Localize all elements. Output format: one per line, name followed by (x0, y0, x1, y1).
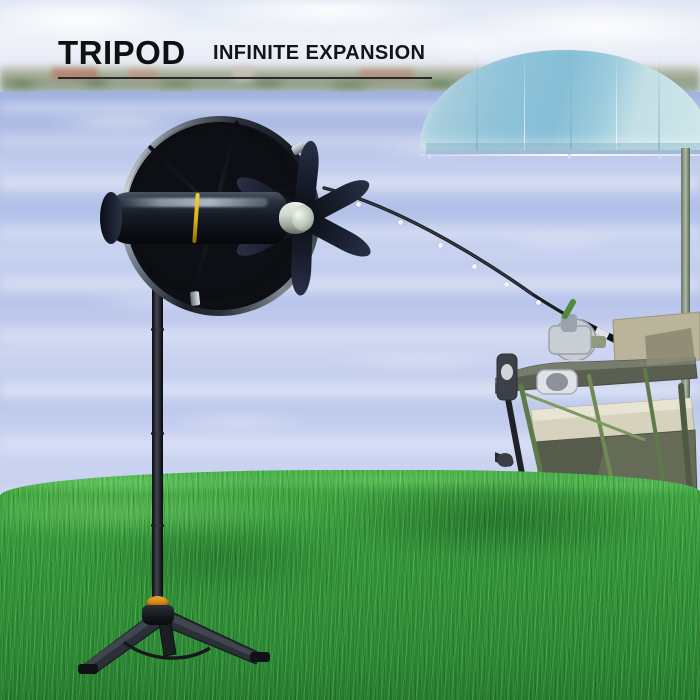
turbine-hub-cone (292, 205, 314, 231)
title-block: TRIPOD INFINITE EXPANSION (0, 18, 700, 66)
rod-guide-ring (438, 243, 443, 248)
product-scene: TRIPOD INFINITE EXPANSION (0, 0, 700, 700)
rod-guide-ring (398, 220, 403, 225)
rod-rest-knob (497, 453, 513, 467)
rod-guide-ring (356, 202, 361, 207)
tripod-foot-right (250, 652, 270, 662)
umbrella-seam (658, 52, 660, 150)
umbrella-seam (476, 52, 478, 150)
chair-clamp-lever (501, 364, 513, 380)
turbine-nacelle-highlight (118, 198, 268, 207)
mast-segment-joint[interactable] (151, 328, 164, 331)
tripod-hub (142, 605, 174, 625)
umbrella-rib-tip (428, 154, 431, 159)
ring-clip (190, 291, 200, 306)
title-underline (58, 77, 432, 79)
rod-guide-ring (472, 264, 477, 269)
tripod-base (60, 590, 320, 680)
tripod-foot-left (78, 664, 98, 674)
page-title: TRIPOD (58, 36, 186, 69)
rod-pod-green-knob (565, 302, 573, 316)
umbrella-rib-tip (658, 154, 661, 159)
page-subtitle: INFINITE EXPANSION (213, 43, 425, 63)
mast-segment-joint[interactable] (151, 524, 164, 527)
wind-turbine-head[interactable] (96, 110, 316, 310)
umbrella-seam (570, 52, 572, 150)
umbrella-rib-tip (568, 154, 571, 159)
mast-segment-joint[interactable] (151, 432, 164, 435)
rod-guide-ring (504, 282, 509, 287)
rod-holder-cradle-inner (546, 373, 568, 391)
tripod-leg-right-highlight (168, 614, 258, 658)
